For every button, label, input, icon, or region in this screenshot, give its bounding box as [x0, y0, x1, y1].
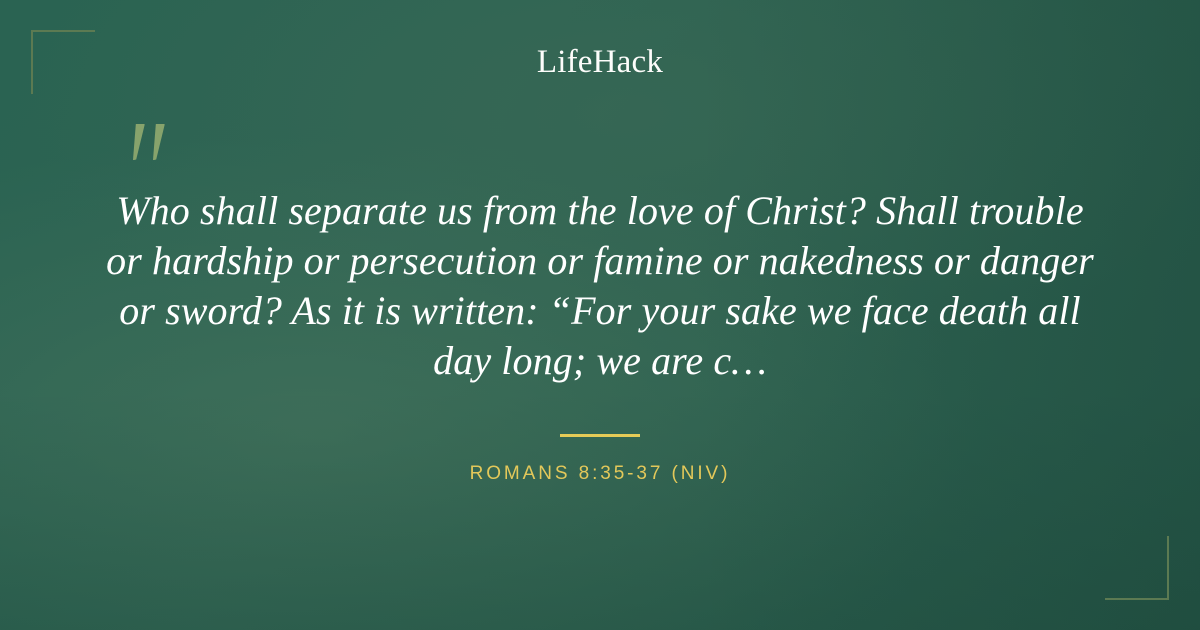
- quotation-mark-stroke-right: [148, 124, 165, 160]
- citation-reference: ROMANS 8:35-37 (NIV): [0, 463, 1200, 485]
- corner-bracket-bottom-right: [1105, 536, 1169, 600]
- citation-divider: [560, 434, 640, 437]
- quote-body: Who shall separate us from the love of C…: [94, 186, 1106, 386]
- quote-card: LifeHack Who shall separate us from the …: [0, 0, 1200, 630]
- quotation-mark-icon: [128, 116, 182, 172]
- brand-logo: LifeHack: [0, 44, 1200, 81]
- quote-text: Who shall separate us from the love of C…: [94, 186, 1106, 386]
- quotation-mark-stroke-left: [128, 124, 145, 160]
